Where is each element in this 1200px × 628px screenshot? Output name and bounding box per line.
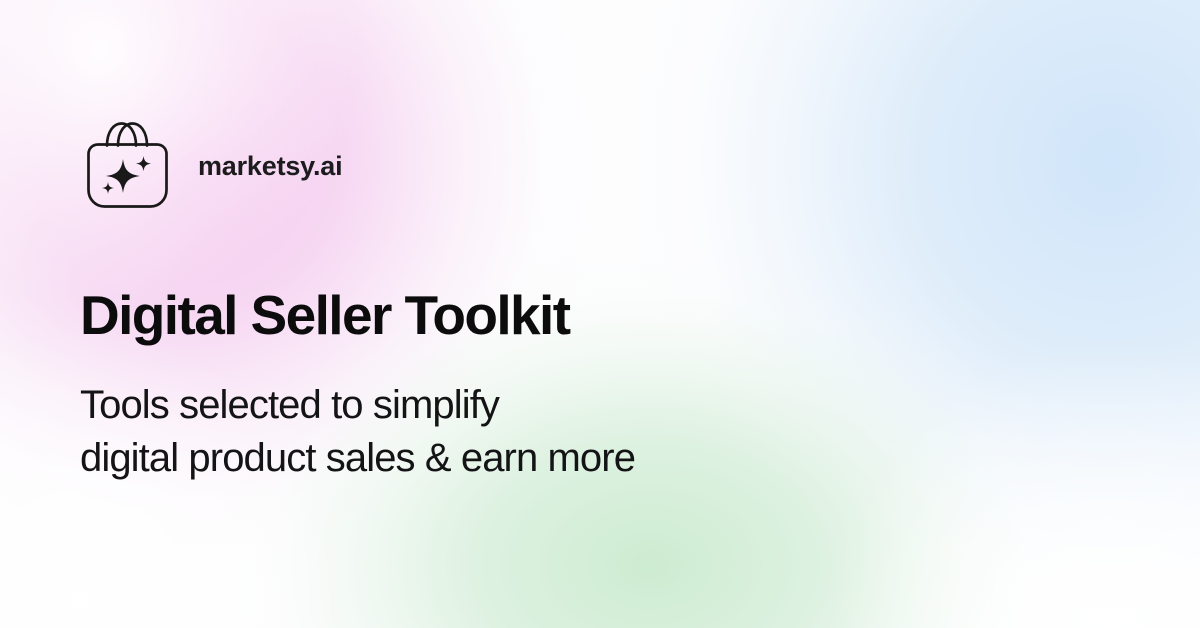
background-highlight-bottom-right (800, 340, 1200, 628)
page-title: Digital Seller Toolkit (80, 286, 569, 345)
background-blob-blue (620, 0, 1200, 628)
page-subtitle: Tools selected to simplify digital produ… (80, 379, 635, 485)
page-subtitle-line-1: Tools selected to simplify (80, 379, 635, 432)
brand-lockup: marketsy.ai (80, 118, 342, 210)
shopping-bag-sparkle-icon (80, 118, 168, 210)
page-subtitle-line-2: digital product sales & earn more (80, 432, 635, 485)
og-card: marketsy.ai Digital Seller Toolkit Tools… (0, 0, 1200, 628)
brand-wordmark: marketsy.ai (198, 149, 342, 180)
